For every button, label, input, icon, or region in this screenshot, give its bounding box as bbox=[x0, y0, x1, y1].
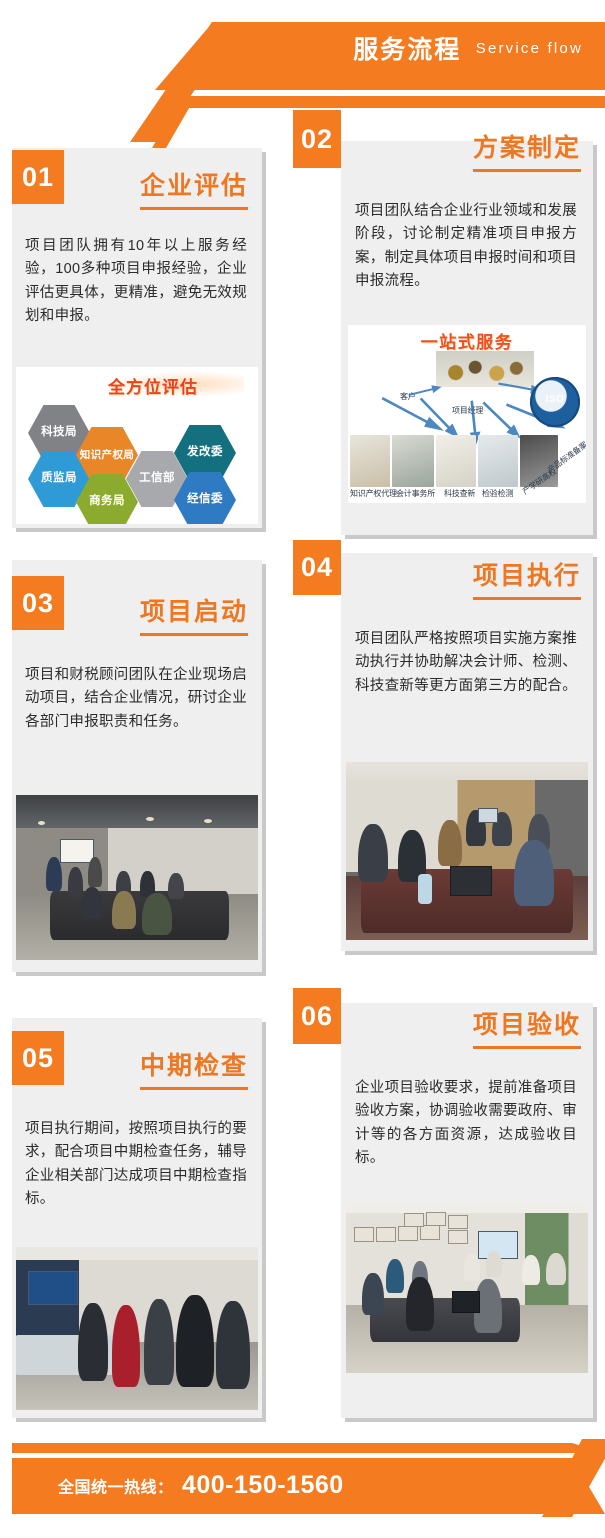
step-body-01: 项目团队拥有10年以上服务经验，100多种项目申报经验，企业评估更具体，更精准，… bbox=[25, 235, 247, 329]
figure-photo-03 bbox=[16, 795, 258, 960]
one-stop-label-ip: 知识产权代理 bbox=[350, 488, 397, 499]
photo-person-9 bbox=[142, 893, 172, 935]
photo-monitor bbox=[478, 808, 498, 823]
step-title-06: 项目验收 bbox=[341, 1005, 581, 1049]
photo-person-3 bbox=[88, 857, 102, 887]
photo-table bbox=[50, 891, 229, 941]
one-stop-thumb-test bbox=[478, 435, 518, 487]
one-stop-thumb-search bbox=[436, 435, 476, 487]
one-stop-team-photo bbox=[436, 351, 534, 387]
step-body-05: 项目执行期间，按照项目执行的要求，配合项目中期检查任务，辅导企业相关部门达成项目… bbox=[25, 1118, 247, 1212]
header-underline-stripe bbox=[170, 96, 605, 108]
photo-person-1 bbox=[386, 1259, 404, 1293]
one-stop-label-test: 检验检测 bbox=[482, 488, 513, 499]
one-stop-label-customer: 客户 bbox=[400, 391, 416, 402]
step-body-02: 项目团队结合企业行业领域和发展阶段，讨论制定精准项目申报方案，制定具体项目申报时… bbox=[355, 200, 577, 294]
footer-top-stripe bbox=[12, 1443, 605, 1453]
photo-person-8 bbox=[406, 1277, 434, 1331]
photo-light-2 bbox=[146, 817, 154, 821]
photo-person-6 bbox=[546, 1253, 566, 1285]
photo-person-1 bbox=[78, 1303, 108, 1381]
hotline-number[interactable]: 400-150-1560 bbox=[182, 1471, 344, 1499]
hotline: 全国统一热线： 400-150-1560 bbox=[58, 1471, 344, 1500]
photo-person-7 bbox=[362, 1273, 384, 1315]
step-body-06: 企业项目验收要求，提前准备项目验收方案，协调验收需要政府、审计等的各方面资源，达… bbox=[355, 1077, 577, 1171]
photo-person-4 bbox=[176, 1295, 214, 1387]
figure-photo-04 bbox=[346, 762, 588, 940]
step-number-badge-02: 02 bbox=[293, 110, 341, 168]
step-body-04: 项目团队严格按照项目实施方案推动执行并协助解决会计师、检测、科技查新等更方面第三… bbox=[355, 628, 577, 698]
figure-one-stop-service: 一站式服务 客户 项目经理 知识产权代理 会计事务所 科技查新 检验检测 产学研… bbox=[348, 325, 586, 503]
one-stop-title: 一站式服务 bbox=[348, 328, 586, 353]
one-stop-thumb-ip bbox=[350, 435, 390, 487]
photo-certificate-7 bbox=[448, 1215, 468, 1229]
step-number-badge-03: 03 bbox=[12, 576, 64, 630]
photo-certificate-5 bbox=[404, 1213, 424, 1227]
service-flow-infographic: 服务流程 Service flow 01 企业评估 项目团队拥有10年以上服务经… bbox=[0, 0, 605, 1538]
photo-person-1 bbox=[46, 857, 62, 891]
photo-certificate-1 bbox=[354, 1227, 374, 1242]
step-number-badge-04: 04 bbox=[293, 540, 341, 595]
photo-display-board bbox=[28, 1271, 78, 1305]
figure-photo-06 bbox=[346, 1203, 588, 1373]
photo-person-7 bbox=[514, 840, 554, 906]
step-body-03: 项目和财税顾问团队在企业现场启动项目，结合企业情况，研讨企业各部门申报职责和任务… bbox=[25, 664, 247, 734]
page-title-en: Service flow bbox=[476, 40, 583, 57]
photo-whiteboard bbox=[60, 839, 94, 863]
one-stop-label-account: 会计事务所 bbox=[396, 488, 435, 499]
step-title-02: 方案制定 bbox=[341, 128, 581, 172]
photo-person-8 bbox=[112, 891, 136, 929]
figure-hexagon-diagram: 全方位评估 科技局 质监局 知识产权局 商务局 工信部 发改委 经信委 bbox=[16, 367, 258, 524]
photo-person-5 bbox=[216, 1301, 250, 1389]
step-number-badge-05: 05 bbox=[12, 1031, 64, 1085]
step-title-04: 项目执行 bbox=[341, 556, 581, 600]
photo-person-4 bbox=[486, 1251, 502, 1277]
photo-certificate-2 bbox=[376, 1227, 396, 1242]
photo-person-2 bbox=[112, 1305, 140, 1387]
one-stop-label-manager: 项目经理 bbox=[452, 405, 483, 416]
photo-water-bottle bbox=[418, 874, 432, 904]
photo-person-7 bbox=[82, 887, 102, 919]
photo-person-2 bbox=[68, 867, 83, 897]
photo-light-1 bbox=[38, 821, 45, 825]
step-number-badge-06: 06 bbox=[293, 988, 341, 1044]
step-number-badge-01: 01 bbox=[12, 150, 64, 204]
one-stop-label-search: 科技查新 bbox=[444, 488, 475, 499]
photo-person-6 bbox=[168, 873, 184, 899]
page-footer: 全国统一热线： 400-150-1560 bbox=[0, 1425, 605, 1538]
photo-laptop bbox=[450, 866, 492, 896]
figure-photo-05 bbox=[16, 1247, 258, 1410]
photo-person-5 bbox=[522, 1255, 540, 1285]
photo-certificate-3 bbox=[398, 1226, 418, 1241]
one-stop-thumb-account bbox=[392, 435, 434, 487]
hex-diagram-title: 全方位评估 bbox=[108, 373, 198, 398]
iso-seal-icon bbox=[530, 377, 580, 427]
photo-laptop bbox=[452, 1291, 480, 1313]
photo-certificate-8 bbox=[448, 1230, 468, 1244]
photo-certificate-4 bbox=[420, 1225, 440, 1240]
page-title: 服务流程 Service flow bbox=[0, 30, 605, 66]
photo-person-3 bbox=[438, 820, 462, 866]
photo-person-3 bbox=[464, 1253, 480, 1281]
photo-certificate-6 bbox=[426, 1212, 446, 1226]
photo-person-1 bbox=[358, 824, 388, 882]
page-title-cn: 服务流程 bbox=[353, 36, 461, 64]
hotline-label: 全国统一热线： bbox=[58, 1480, 174, 1497]
photo-light-3 bbox=[204, 819, 212, 823]
photo-person-3 bbox=[144, 1299, 174, 1385]
